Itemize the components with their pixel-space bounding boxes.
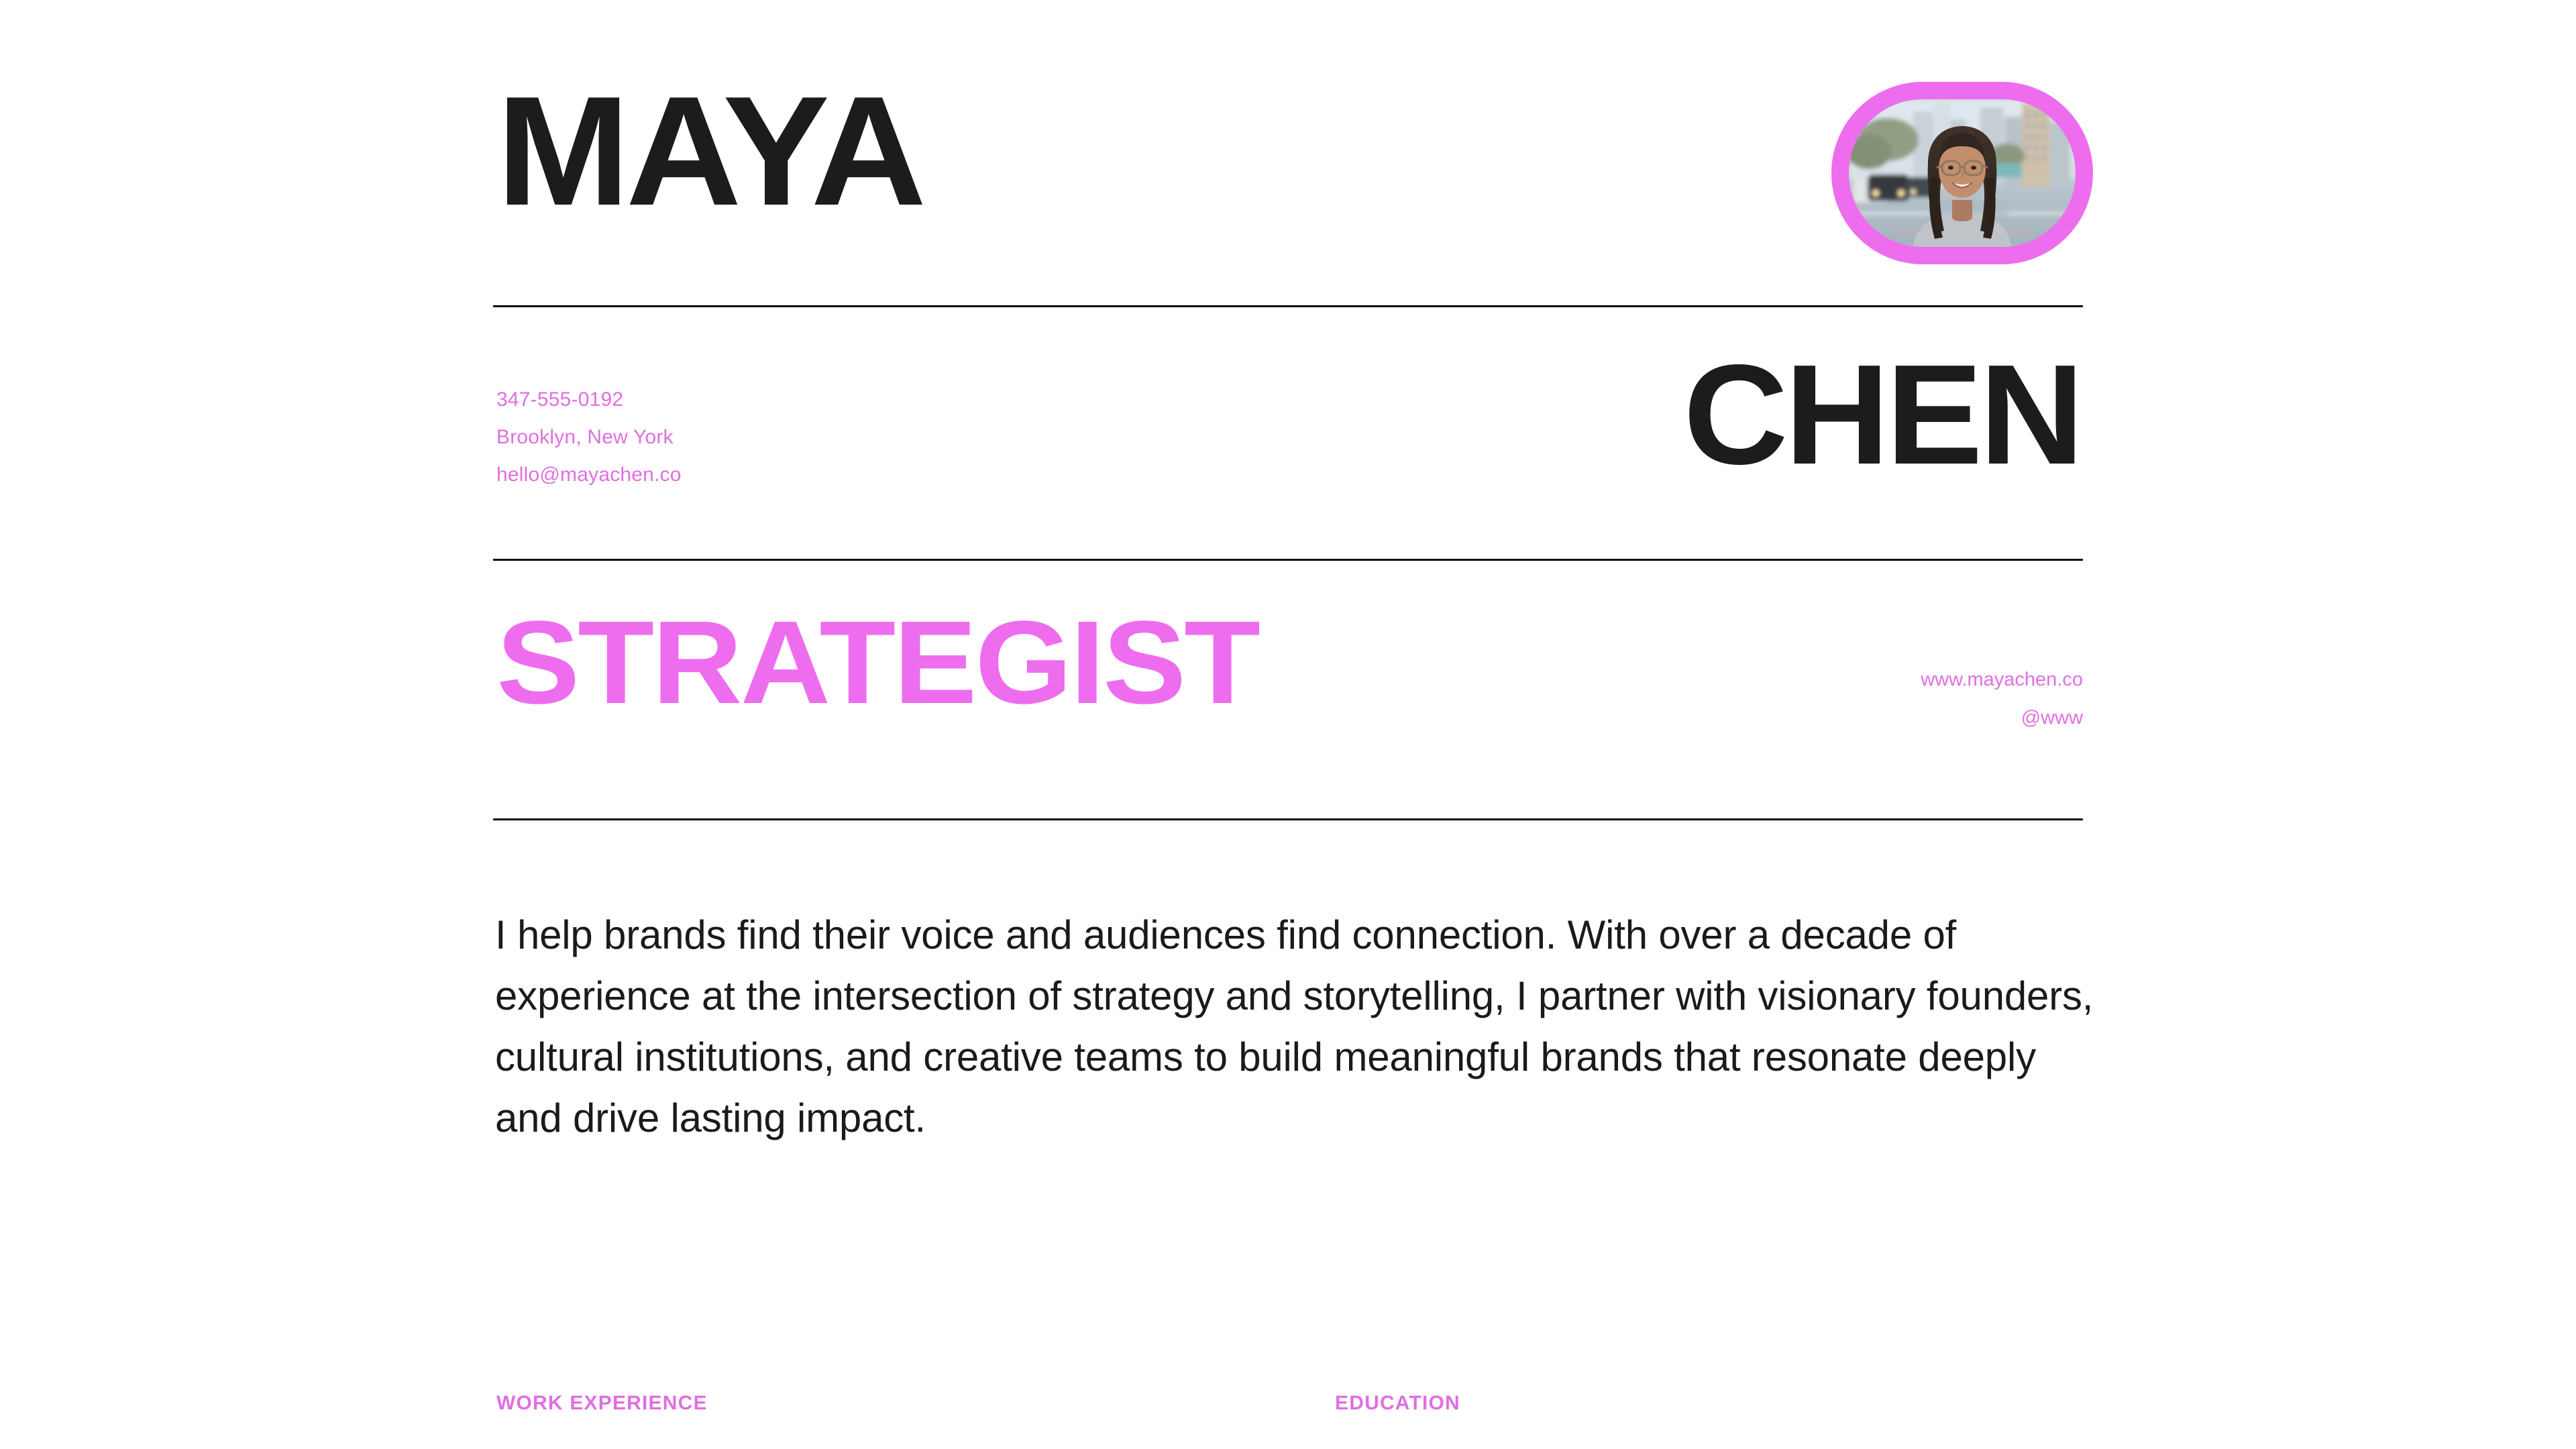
web-links-block: www.mayachen.co @www: [1921, 661, 2083, 737]
contact-location: Brooklyn, New York: [496, 419, 682, 456]
first-name-heading: MAYA: [496, 74, 922, 229]
last-name-heading: CHEN: [1684, 343, 2081, 486]
portrait-photo-icon: [1849, 99, 2076, 247]
resume-page: MAYA: [0, 0, 2576, 1449]
section-heading-education: EDUCATION: [1335, 1392, 1460, 1415]
contact-block: 347-555-0192 Brooklyn, New York hello@ma…: [496, 381, 682, 494]
avatar: [1831, 82, 2093, 264]
section-heading-work-experience: WORK EXPERIENCE: [496, 1392, 708, 1415]
summary-paragraph: I help brands find their voice and audie…: [495, 904, 2098, 1148]
social-handle[interactable]: @www: [1921, 699, 2083, 737]
divider-3: [493, 818, 2083, 820]
contact-email[interactable]: hello@mayachen.co: [496, 456, 682, 494]
divider-2: [493, 559, 2083, 561]
contact-phone[interactable]: 347-555-0192: [496, 381, 682, 419]
divider-1: [493, 305, 2083, 307]
avatar-image-frame: [1849, 99, 2076, 247]
role-heading: STRATEGIST: [496, 604, 1258, 722]
website-link[interactable]: www.mayachen.co: [1921, 661, 2083, 699]
